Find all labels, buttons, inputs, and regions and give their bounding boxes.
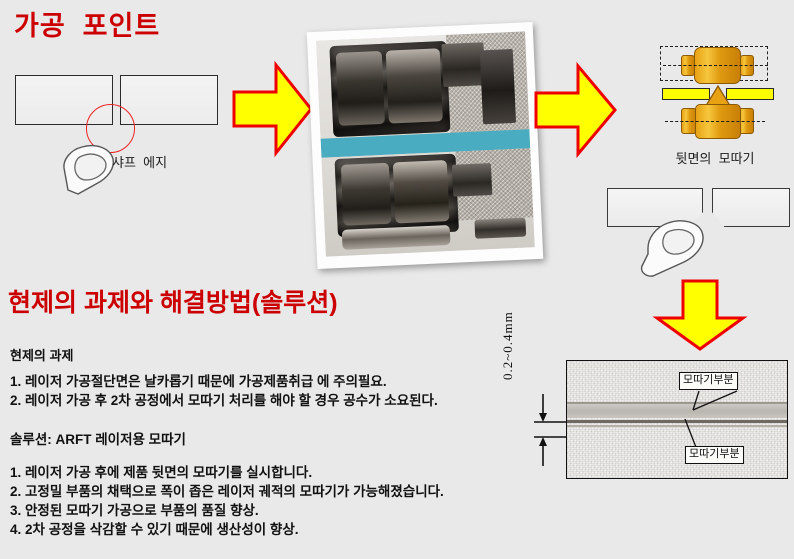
solution-heading: 솔루션: ARFT 레이저용 모따기 xyxy=(10,428,186,448)
workpiece-bar-right xyxy=(726,88,774,100)
page-title-issue-solution: 현제의 과제와 해결방법(솔루션) xyxy=(8,283,338,319)
plate-chamfered-right xyxy=(712,188,790,227)
arrow-right-icon xyxy=(534,60,618,160)
page-title-machining-point: 가공 포인트 xyxy=(14,4,160,43)
callout-leader-lines xyxy=(567,361,788,479)
arrow-right-icon xyxy=(232,60,314,158)
label-back-chamfer: 뒷면의 모따기 xyxy=(640,148,790,167)
finger-pointer-icon xyxy=(640,218,722,280)
solution-item: 4. 2차 공정을 삭감할 수 있기 때문에 생산성이 향상. xyxy=(10,520,444,539)
callout-chamfer-bottom: 모따기부분 xyxy=(685,446,744,464)
issue-item: 1. 레이저 가공절단면은 날카롭기 때문에 가공제품취급 에 주의필요. xyxy=(10,372,438,391)
workpiece-bar-left xyxy=(662,88,710,100)
solution-item: 2. 고정밀 부품의 채택으로 폭이 좁은 레이저 궤적의 모따기가 가능해졌습… xyxy=(10,482,444,501)
arrow-down-icon xyxy=(652,278,748,352)
photo-machined-part xyxy=(307,22,544,269)
issue-heading: 현제의 과제 xyxy=(10,345,73,364)
issue-list: 1. 레이저 가공절단면은 날카롭기 때문에 가공제품취급 에 주의필요. 2.… xyxy=(10,372,438,410)
photo-inner xyxy=(316,31,535,256)
micrograph-chamfer: 모따기부분 모따기부분 xyxy=(566,360,788,479)
solution-item: 3. 안정된 모따기 가공으로 부품의 품질 향상. xyxy=(10,501,444,520)
centerline-upper xyxy=(663,65,768,66)
callout-chamfer-top: 모따기부분 xyxy=(679,372,738,390)
centerline-lower xyxy=(665,121,765,122)
issue-item: 2. 레이저 가공 후 2차 공정에서 모따기 처리를 해야 할 경우 공수가 … xyxy=(10,391,438,410)
solution-item: 1. 레이저 가공 후에 제품 뒷면의 모따기를 실시합니다. xyxy=(10,463,444,482)
solution-list: 1. 레이저 가공 후에 제품 뒷면의 모따기를 실시합니다. 2. 고정밀 부… xyxy=(10,463,444,539)
label-sharp-edge: 샤프 에지 xyxy=(112,152,167,171)
plate-right-sharp xyxy=(120,75,218,125)
dimension-label-chamfer-depth: 0.2~0.4mm xyxy=(500,290,516,380)
